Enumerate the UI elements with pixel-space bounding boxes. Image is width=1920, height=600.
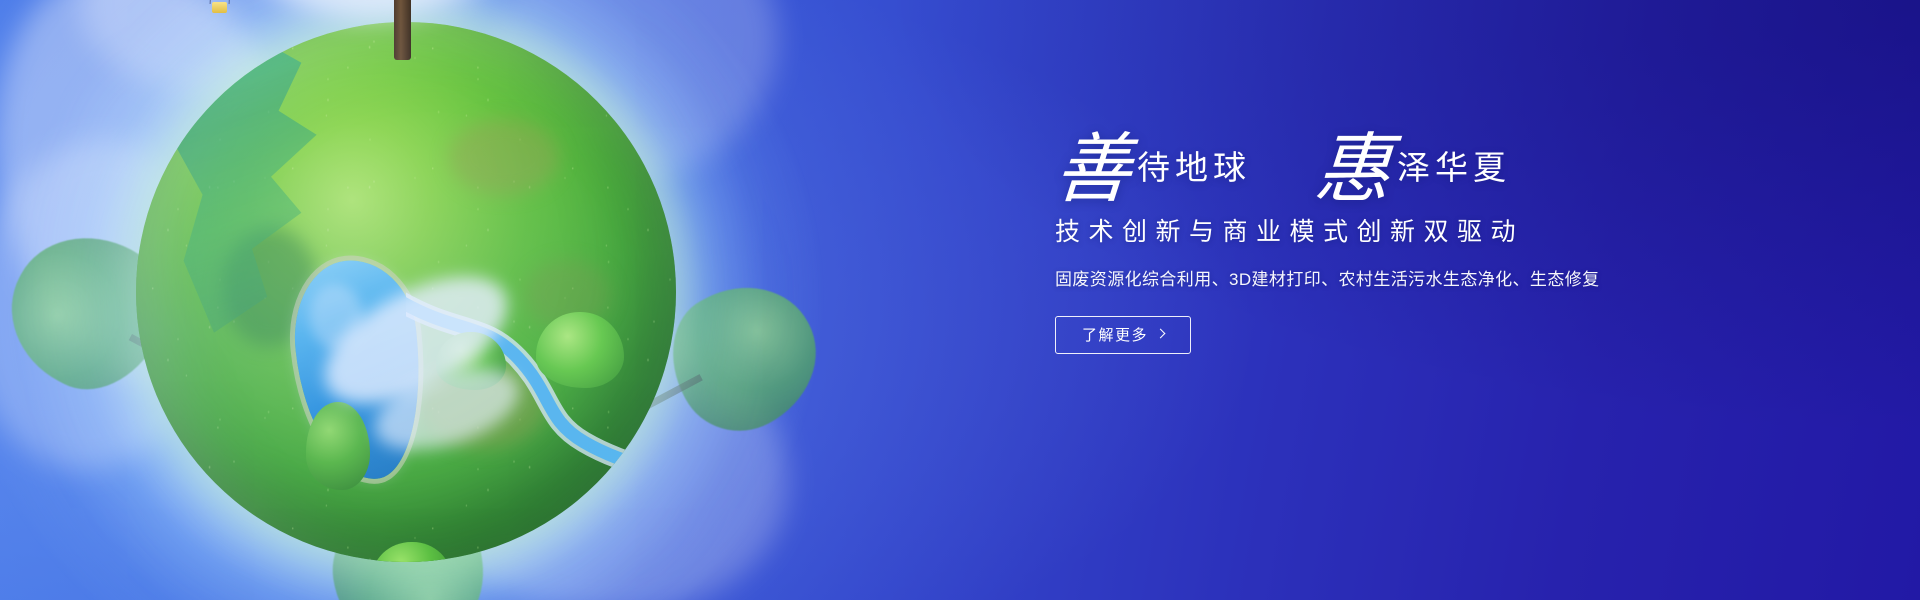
tiny-planet-artwork bbox=[0, 0, 820, 600]
subheadline: 技术创新与商业模式创新双驱动 bbox=[1055, 212, 1815, 248]
headline-phrase-1: 善 待地球 bbox=[1055, 128, 1251, 198]
terrain-patch bbox=[449, 119, 559, 195]
tree-mist bbox=[260, 0, 480, 18]
hot-air-balloon bbox=[188, 0, 252, 18]
page-title: 善 待地球 惠 泽华夏 bbox=[1055, 128, 1815, 198]
tree-trunk bbox=[394, 0, 411, 60]
headline-big-char-2: 惠 bbox=[1313, 134, 1394, 204]
headline-phrase-2: 惠 泽华夏 bbox=[1315, 128, 1511, 198]
learn-more-label: 了解更多 bbox=[1082, 324, 1148, 345]
hero-banner: 善 待地球 惠 泽华夏 技术创新与商业模式创新双驱动 固废资源化综合利用、3D建… bbox=[0, 0, 1920, 600]
big-tree bbox=[290, 0, 520, 32]
learn-more-button[interactable]: 了解更多 bbox=[1055, 316, 1191, 354]
headline-big-char-1: 善 bbox=[1053, 134, 1134, 204]
chevron-right-icon bbox=[1156, 329, 1166, 339]
headline-small-text-1: 待地球 bbox=[1131, 151, 1251, 198]
green-planet-sphere bbox=[136, 22, 676, 562]
description-text: 固废资源化综合利用、3D建材打印、农村生活污水生态净化、生态修复 bbox=[1055, 265, 1815, 290]
headline-small-text-2: 泽华夏 bbox=[1391, 151, 1511, 198]
balloon-basket bbox=[212, 2, 227, 13]
hero-copy: 善 待地球 惠 泽华夏 技术创新与商业模式创新双驱动 固废资源化综合利用、3D建… bbox=[1055, 128, 1815, 354]
